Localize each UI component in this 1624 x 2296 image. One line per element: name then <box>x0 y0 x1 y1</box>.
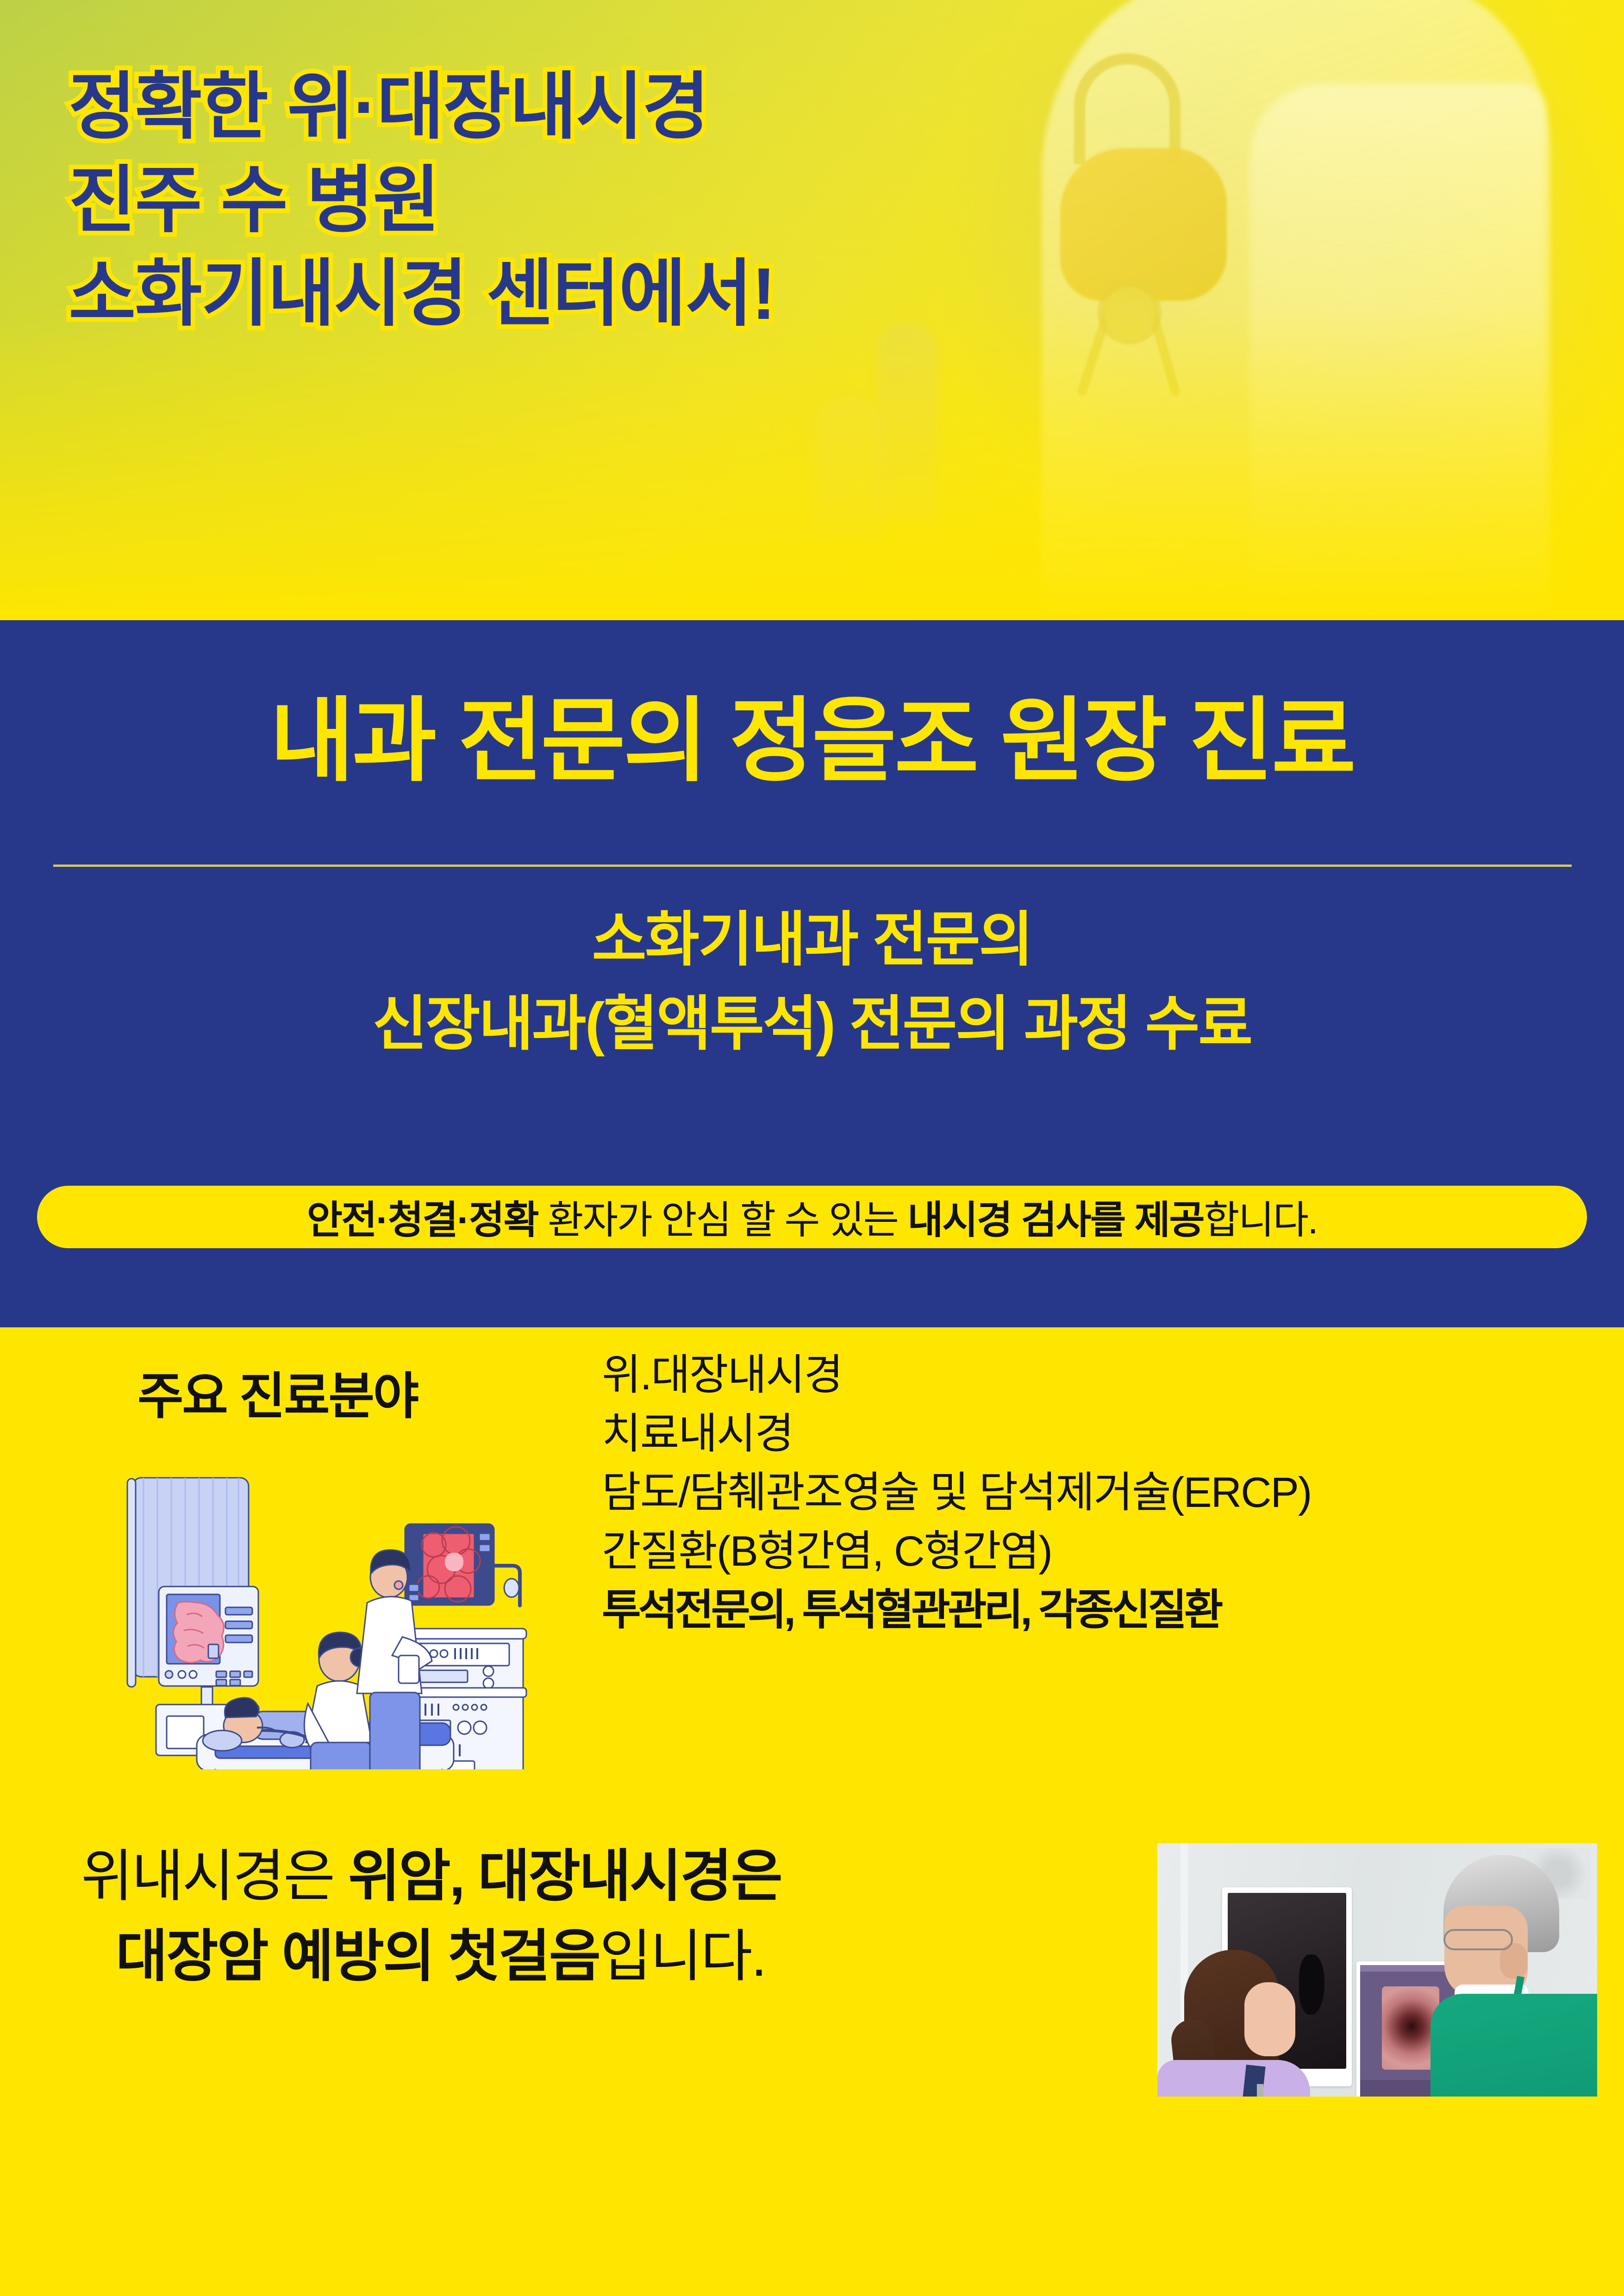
closing-statement: 위내시경은 위암, 대장내시경은 대장암 예방의 첫걸음입니다. <box>81 1836 781 1997</box>
doctor-headline: 내과 전문의 정을조 원장 진료 <box>0 666 1624 799</box>
hero-title-line-2: 진주 수 병원 <box>69 154 775 247</box>
photo-nurse <box>1157 1950 1310 2097</box>
assurance-normal-1: 환자가 안심 할 수 있는 <box>538 1198 907 1242</box>
statement-line-1-normal: 위내시경은 <box>81 1845 348 1908</box>
service-item-3: 담도/담췌관조영술 및 담석제거술(ERCP) <box>602 1463 1312 1522</box>
services-list: 위.대장내시경 치료내시경 담도/담췌관조영술 및 담석제거술(ERCP) 간질… <box>602 1346 1312 1640</box>
credential-line-1: 소화기내과 전문의 <box>0 898 1624 982</box>
hero-title-line-1: 정확한 위·대장내시경 <box>69 60 775 154</box>
services-heading: 주요 진료분야 <box>137 1356 418 1428</box>
photo-equipment-base <box>1257 2084 1263 2097</box>
statement-line-2: 대장암 예방의 첫걸음입니다. <box>81 1916 781 1997</box>
photo-doctor-surgical-gown <box>1430 1994 1597 2097</box>
services-section: 주요 진료분야 위.대장내시경 치료내시경 담도/담췌관조영술 및 담석제거술(… <box>0 1327 1624 2296</box>
divider-line <box>53 865 1572 867</box>
assurance-badge-text: 안전·청결·정확 환자가 안심 할 수 있는 내시경 검사를 제공합니다. <box>307 1189 1318 1245</box>
service-item-5: 투석전문의, 투석혈관관리, 각종신질환 <box>602 1581 1312 1640</box>
assurance-badge: 안전·청결·정확 환자가 안심 할 수 있는 내시경 검사를 제공합니다. <box>37 1186 1587 1248</box>
hero-title-line-3: 소화기내시경 센터에서! <box>69 247 775 341</box>
endoscopy-room-photo <box>1157 1843 1597 2097</box>
photo-doctor <box>1430 1855 1597 2097</box>
hero-title: 정확한 위·대장내시경 진주 수 병원 소화기내시경 센터에서! <box>69 60 775 341</box>
hero-banner: 정확한 위·대장내시경 진주 수 병원 소화기내시경 센터에서! <box>0 0 1624 620</box>
assurance-bold-2: 내시경 검사를 제공 <box>907 1198 1204 1242</box>
doctor-credentials: 소화기내과 전문의 신장내과(혈액투석) 전문의 과정 수료 <box>0 898 1624 1066</box>
service-item-1: 위.대장내시경 <box>602 1346 1312 1405</box>
photo-doctor-glasses <box>1443 1929 1513 1950</box>
statement-line-2-normal: 입니다. <box>600 1925 766 1988</box>
photo-nurse-uniform <box>1157 2060 1310 2097</box>
endoscopy-room-illustration <box>123 1450 576 1769</box>
credential-line-2: 신장내과(혈액투석) 전문의 과정 수료 <box>0 982 1624 1066</box>
statement-line-1: 위내시경은 위암, 대장내시경은 <box>81 1836 781 1916</box>
service-item-4: 간질환(B형간염, C형간염) <box>602 1522 1312 1581</box>
service-item-2: 치료내시경 <box>602 1405 1312 1463</box>
statement-line-2-bold: 대장암 예방의 첫걸음 <box>116 1925 600 1988</box>
doctor-info-band: 내과 전문의 정을조 원장 진료 소화기내과 전문의 신장내과(혈액투석) 전문… <box>0 620 1624 1327</box>
photo-nurse-face <box>1244 1982 1295 2056</box>
statement-line-1-bold: 위암, 대장내시경은 <box>348 1845 781 1908</box>
assurance-normal-2: 합니다. <box>1204 1198 1317 1242</box>
assurance-bold-1: 안전·청결·정확 <box>307 1198 538 1242</box>
